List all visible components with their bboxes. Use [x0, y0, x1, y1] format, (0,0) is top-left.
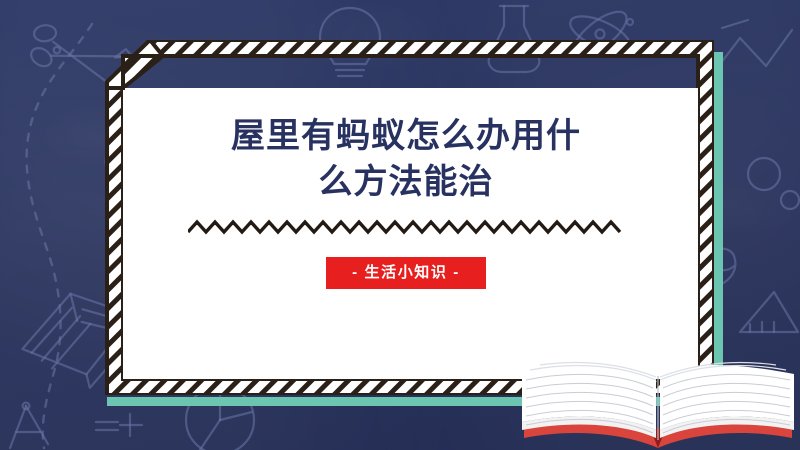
poster-content: 屋里有蚂蚁怎么办用什 么方法能治 - 生活小知识 - — [110, 52, 702, 384]
bubble-doodle — [748, 158, 799, 209]
poster-canvas: 屋里有蚂蚁怎么办用什 么方法能治 - 生活小知识 - — [0, 0, 800, 450]
title-line-1: 屋里有蚂蚁怎么办用什 — [126, 114, 686, 160]
zigzag-divider — [188, 219, 624, 235]
page-title: 屋里有蚂蚁怎么办用什 么方法能治 — [126, 114, 686, 205]
math-doodle — [96, 414, 142, 436]
open-book-icon — [516, 358, 800, 450]
status-badge: - 生活小知识 - — [326, 257, 486, 289]
dashed-path — [27, 24, 92, 448]
pie-chart-icon — [186, 386, 254, 450]
chevron-doodle — [714, 20, 792, 72]
accent-bar-right — [714, 52, 723, 390]
ruler-icon — [740, 292, 798, 332]
title-line-2: 么方法能治 — [126, 160, 686, 206]
compass-icon — [10, 403, 48, 448]
